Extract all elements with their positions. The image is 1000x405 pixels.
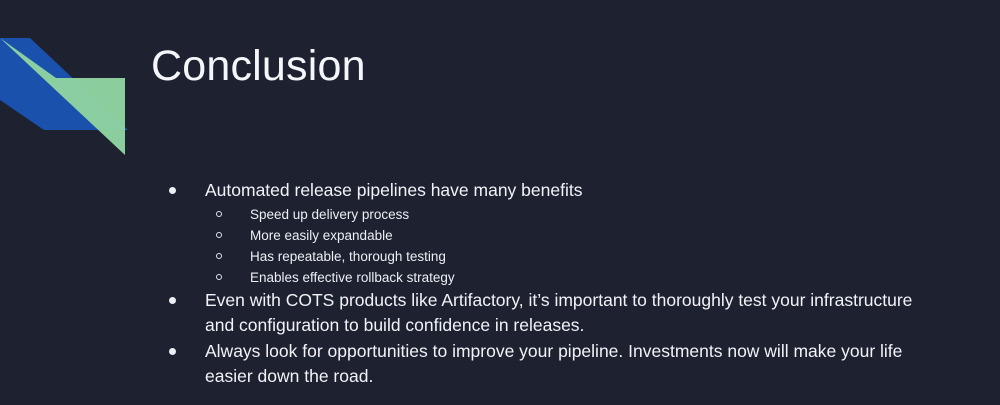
bullet-ring-icon [216, 232, 222, 238]
slide-body: Automated release pipelines have many be… [160, 178, 920, 390]
sub-bullet-text: Has repeatable, thorough testing [250, 249, 446, 264]
slide-title: Conclusion [151, 42, 366, 91]
bullet-dot-icon [169, 348, 176, 355]
sub-bullet-item: Has repeatable, thorough testing [205, 246, 920, 267]
sub-bullet-text: More easily expandable [250, 228, 393, 243]
bullet-ring-icon [216, 274, 222, 280]
presentation-slide: Conclusion Automated release pipelines h… [0, 0, 1000, 405]
bullet-dot-icon [169, 297, 176, 304]
sub-bullet-text: Enables effective rollback strategy [250, 270, 455, 285]
logo-green-parallelogram [0, 38, 125, 155]
bullet-text: Even with COTS products like Artifactory… [205, 288, 920, 339]
bullet-item: Always look for opportunities to improve… [160, 339, 920, 390]
bullet-dot-icon [169, 187, 176, 194]
sub-bullet-item: More easily expandable [205, 225, 920, 246]
bullet-ring-icon [216, 211, 222, 217]
bullet-ring-icon [216, 253, 222, 259]
bullet-list: Automated release pipelines have many be… [160, 178, 920, 390]
sub-bullet-list: Speed up delivery process More easily ex… [205, 204, 920, 288]
bullet-item: Automated release pipelines have many be… [160, 178, 920, 288]
logo-icon [0, 0, 150, 170]
bullet-item: Even with COTS products like Artifactory… [160, 288, 920, 339]
sub-bullet-item: Enables effective rollback strategy [205, 267, 920, 288]
sub-bullet-item: Speed up delivery process [205, 204, 920, 225]
bullet-text: Automated release pipelines have many be… [205, 178, 920, 204]
bullet-text: Always look for opportunities to improve… [205, 339, 920, 390]
logo-blue-parallelogram [0, 38, 128, 130]
sub-bullet-text: Speed up delivery process [250, 207, 409, 222]
